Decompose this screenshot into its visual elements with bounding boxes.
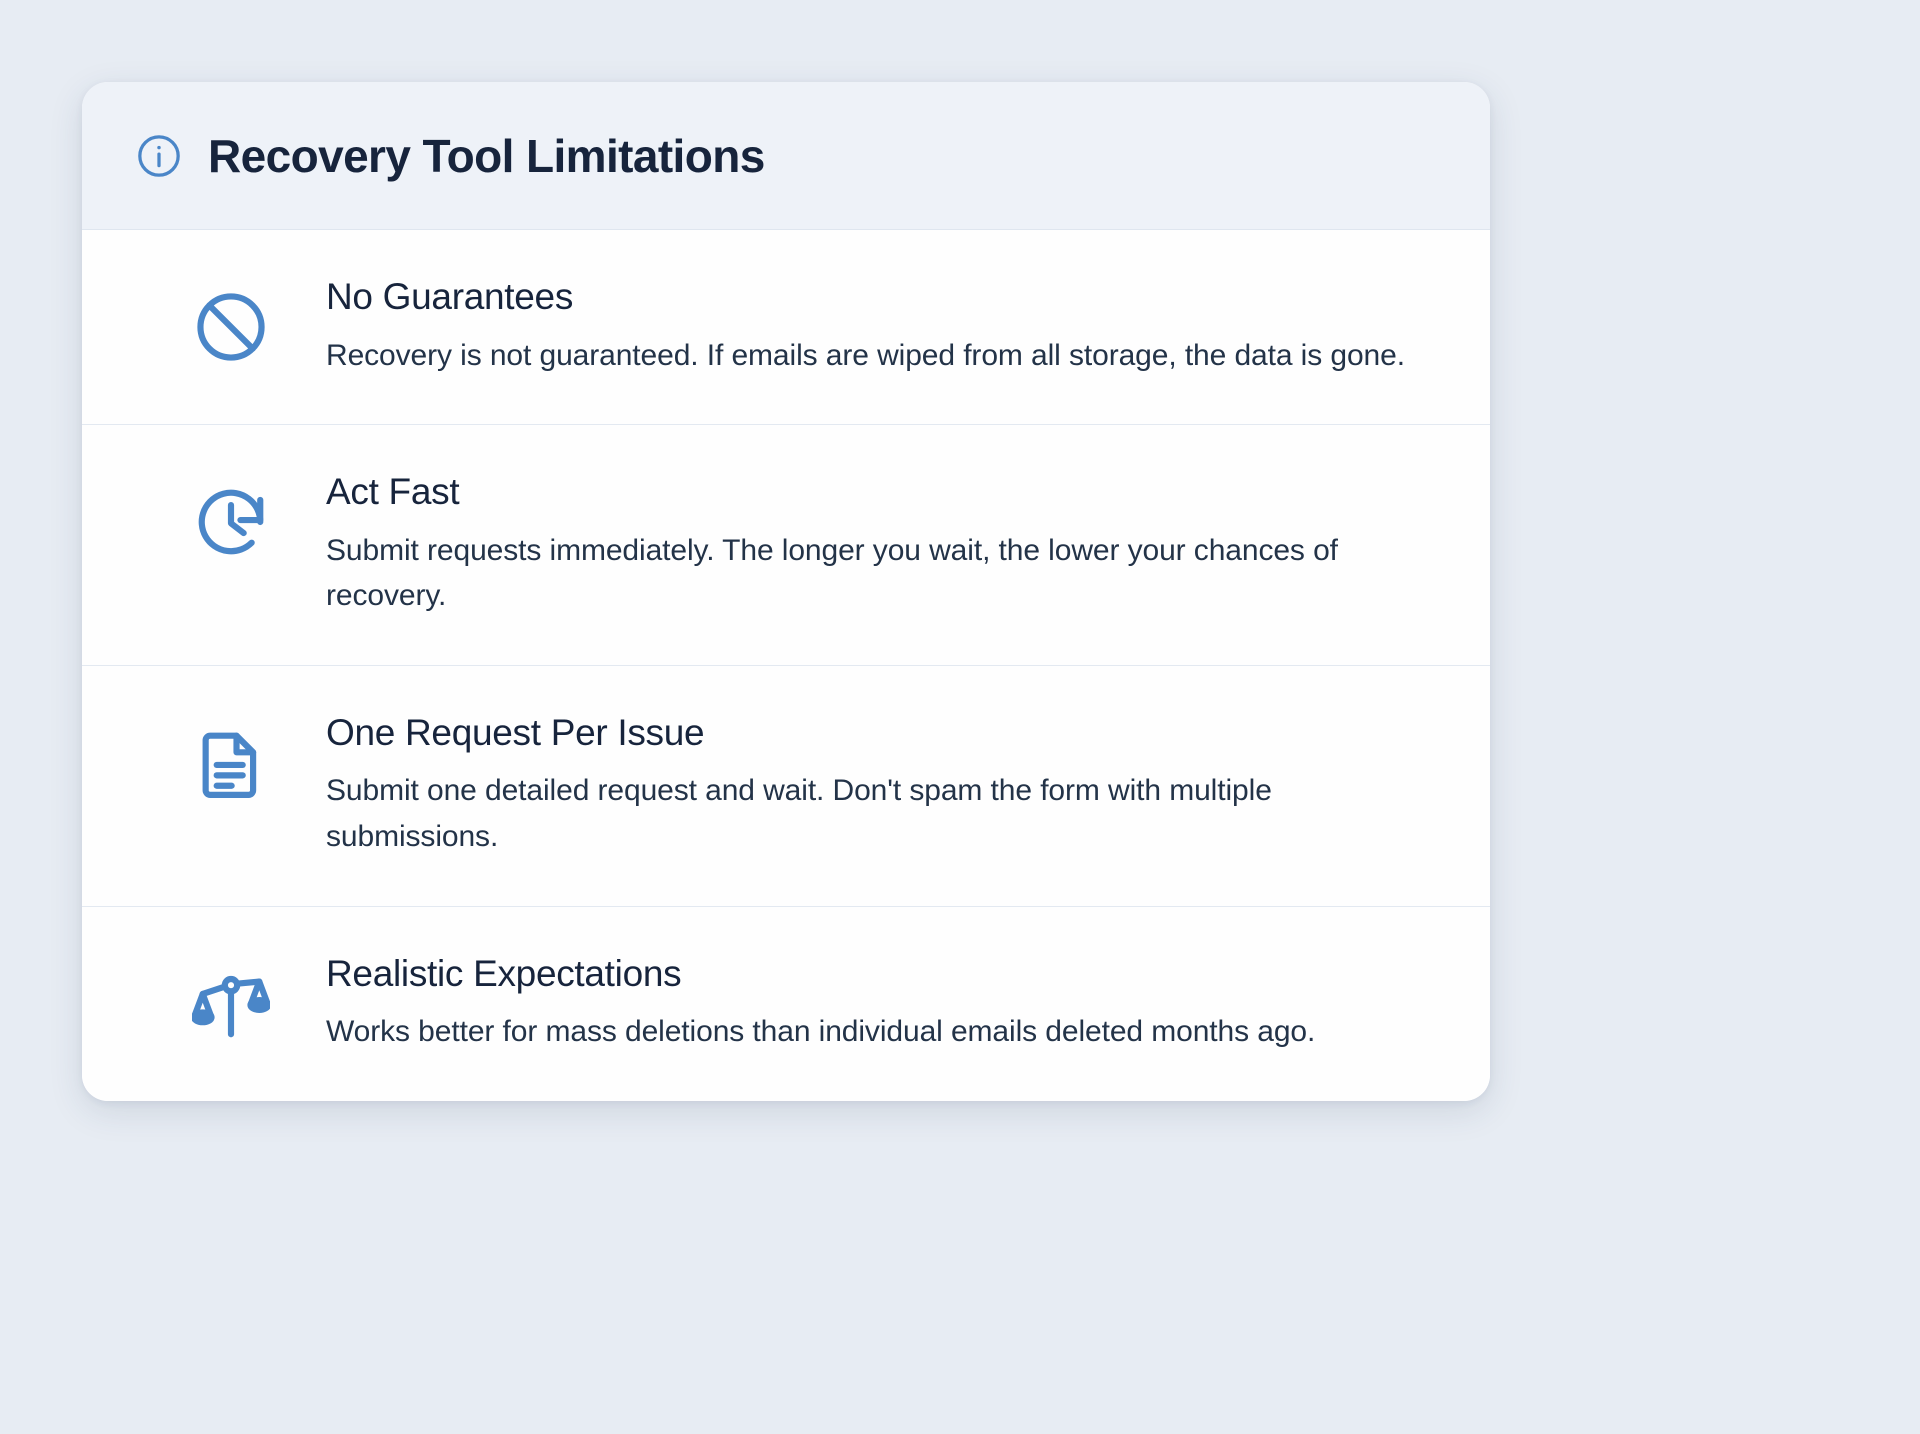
- row-icon-container: [136, 953, 326, 1043]
- info-circle-icon: [136, 133, 182, 179]
- list-item: One Request Per Issue Submit one detaile…: [82, 665, 1490, 906]
- limitations-list: No Guarantees Recovery is not guaranteed…: [82, 230, 1490, 1101]
- list-item: Realistic Expectations Works better for …: [82, 906, 1490, 1101]
- list-item-description: Submit one detailed request and wait. Do…: [326, 768, 1422, 859]
- row-icon-container: [136, 712, 326, 802]
- row-icon-container: [136, 276, 326, 366]
- limitations-card: Recovery Tool Limitations No Guarantees …: [82, 82, 1490, 1101]
- prohibition-icon: [192, 288, 270, 366]
- page-root: Recovery Tool Limitations No Guarantees …: [0, 0, 1920, 1434]
- list-item-description: Submit requests immediately. The longer …: [326, 528, 1422, 619]
- row-content: No Guarantees Recovery is not guaranteed…: [326, 276, 1432, 378]
- page-title: Recovery Tool Limitations: [208, 133, 765, 179]
- list-item-description: Recovery is not guaranteed. If emails ar…: [326, 333, 1422, 379]
- list-item-title: Act Fast: [326, 471, 1422, 514]
- list-item: No Guarantees Recovery is not guaranteed…: [82, 230, 1490, 424]
- list-item: Act Fast Submit requests immediately. Th…: [82, 424, 1490, 665]
- list-item-description: Works better for mass deletions than ind…: [326, 1009, 1422, 1055]
- row-content: Act Fast Submit requests immediately. Th…: [326, 471, 1432, 619]
- list-item-title: No Guarantees: [326, 276, 1422, 319]
- card-header: Recovery Tool Limitations: [82, 82, 1490, 230]
- row-content: Realistic Expectations Works better for …: [326, 953, 1432, 1055]
- document-lines-icon: [192, 724, 270, 802]
- scales-balance-icon: [192, 965, 270, 1043]
- row-icon-container: [136, 471, 326, 561]
- row-content: One Request Per Issue Submit one detaile…: [326, 712, 1432, 860]
- list-item-title: Realistic Expectations: [326, 953, 1422, 996]
- list-item-title: One Request Per Issue: [326, 712, 1422, 755]
- clock-rotate-icon: [192, 483, 270, 561]
